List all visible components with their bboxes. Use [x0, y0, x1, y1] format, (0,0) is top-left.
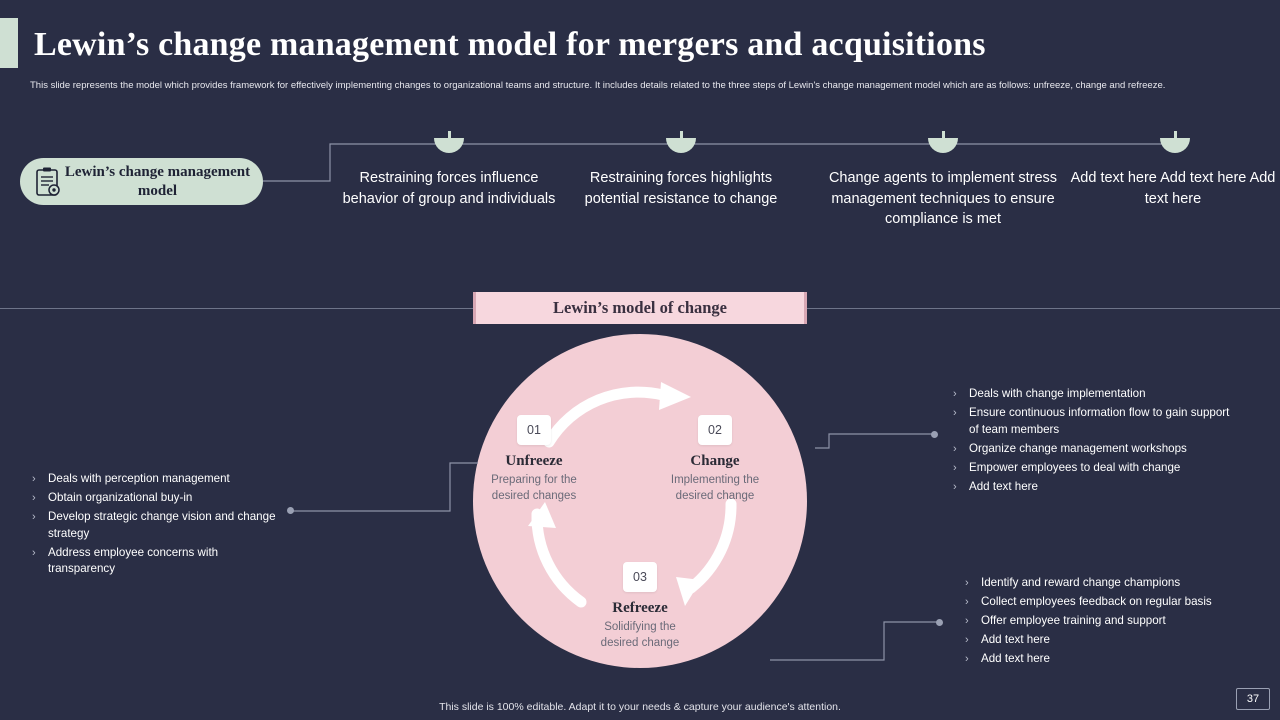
list-item: ›Develop strategic change vision and cha…	[32, 509, 282, 543]
stage-number-badge: 01	[517, 415, 551, 445]
cycle-stage-2[interactable]: 02 Change Implementing the desired chang…	[660, 415, 770, 504]
list-item-label: Offer employee training and support	[981, 613, 1166, 630]
page-title: Lewin’s change management model for merg…	[34, 26, 986, 64]
cycle-banner: Lewin’s model of change	[473, 292, 807, 324]
clipboard-gear-icon	[34, 167, 62, 197]
connector-dot-right-bottom	[936, 619, 943, 626]
list-item-label: Develop strategic change vision and chan…	[48, 509, 282, 543]
top-column-4: Add text here Add text here Add text her…	[1065, 168, 1280, 209]
chevron-right-icon: ›	[32, 509, 48, 543]
connector-dot-right-top	[931, 431, 938, 438]
stage-description: Solidifying the desired change	[584, 620, 696, 651]
top-column-3: Change agents to implement stress manage…	[827, 168, 1059, 230]
stage-description: Implementing the desired change	[660, 473, 770, 504]
list-item: ›Offer employee training and support	[965, 613, 1243, 630]
bullet-group-right-top: ›Deals with change implementation ›Ensur…	[953, 386, 1235, 498]
list-item: ›Deals with perception management	[32, 471, 282, 488]
connector-dot-left	[287, 507, 294, 514]
stage-description: Preparing for the desired changes	[478, 473, 590, 504]
umbrella-icon	[666, 131, 696, 153]
footer-note: This slide is 100% editable. Adapt it to…	[0, 701, 1280, 713]
page-number-badge: 37	[1236, 688, 1270, 710]
list-item: ›Organize change management workshops	[953, 441, 1235, 458]
cycle-stage-3[interactable]: 03 Refreeze Solidifying the desired chan…	[584, 562, 696, 651]
stage-title: Change	[660, 453, 770, 470]
list-item-label: Add text here	[981, 632, 1050, 649]
chevron-right-icon: ›	[965, 613, 981, 630]
title-accent-bar	[0, 18, 18, 68]
umbrella-icon	[434, 131, 464, 153]
chevron-right-icon: ›	[965, 594, 981, 611]
slide-description: This slide represents the model which pr…	[30, 80, 1252, 93]
list-item-label: Empower employees to deal with change	[969, 460, 1180, 477]
list-item: ›Ensure continuous information flow to g…	[953, 405, 1235, 439]
list-item-label: Identify and reward change champions	[981, 575, 1180, 592]
list-item: ›Deals with change implementation	[953, 386, 1235, 403]
chevron-right-icon: ›	[32, 490, 48, 507]
list-item: ›Empower employees to deal with change	[953, 460, 1235, 477]
bullet-group-right-bottom: ›Identify and reward change champions ›C…	[965, 575, 1243, 670]
stage-title: Unfreeze	[478, 453, 590, 470]
list-item: ›Collect employees feedback on regular b…	[965, 594, 1243, 611]
model-label-pill[interactable]: Lewin’s change management model	[20, 158, 263, 205]
list-item-label: Deals with perception management	[48, 471, 230, 488]
chevron-right-icon: ›	[32, 545, 48, 579]
cycle-banner-label: Lewin’s model of change	[553, 298, 727, 318]
cycle-stage-1[interactable]: 01 Unfreeze Preparing for the desired ch…	[478, 415, 590, 504]
chevron-right-icon: ›	[953, 386, 969, 403]
list-item-label: Ensure continuous information flow to ga…	[969, 405, 1235, 439]
list-item: ›Add text here	[965, 632, 1243, 649]
stage-number-badge: 02	[698, 415, 732, 445]
chevron-right-icon: ›	[32, 471, 48, 488]
chevron-right-icon: ›	[953, 441, 969, 458]
model-label-text: Lewin’s change management model	[62, 163, 263, 201]
chevron-right-icon: ›	[953, 460, 969, 477]
list-item-label: Deals with change implementation	[969, 386, 1146, 403]
list-item-label: Collect employees feedback on regular ba…	[981, 594, 1212, 611]
list-item: ›Identify and reward change champions	[965, 575, 1243, 592]
chevron-right-icon: ›	[965, 575, 981, 592]
chevron-right-icon: ›	[953, 479, 969, 496]
chevron-right-icon: ›	[965, 632, 981, 649]
list-item: ›Add text here	[965, 651, 1243, 668]
chevron-right-icon: ›	[953, 405, 969, 439]
chevron-right-icon: ›	[965, 651, 981, 668]
stage-number-badge: 03	[623, 562, 657, 592]
top-column-2: Restraining forces highlights potential …	[573, 168, 789, 209]
top-column-1: Restraining forces influence behavior of…	[341, 168, 557, 209]
list-item-label: Obtain organizational buy-in	[48, 490, 192, 507]
stage-title: Refreeze	[584, 600, 696, 617]
umbrella-icon	[928, 131, 958, 153]
list-item: ›Add text here	[953, 479, 1235, 496]
bullet-group-left: ›Deals with perception management ›Obtai…	[32, 471, 282, 580]
list-item-label: Address employee concerns with transpare…	[48, 545, 282, 579]
list-item-label: Organize change management workshops	[969, 441, 1187, 458]
list-item-label: Add text here	[981, 651, 1050, 668]
list-item: ›Address employee concerns with transpar…	[32, 545, 282, 579]
list-item-label: Add text here	[969, 479, 1038, 496]
list-item: ›Obtain organizational buy-in	[32, 490, 282, 507]
umbrella-icon	[1160, 131, 1190, 153]
